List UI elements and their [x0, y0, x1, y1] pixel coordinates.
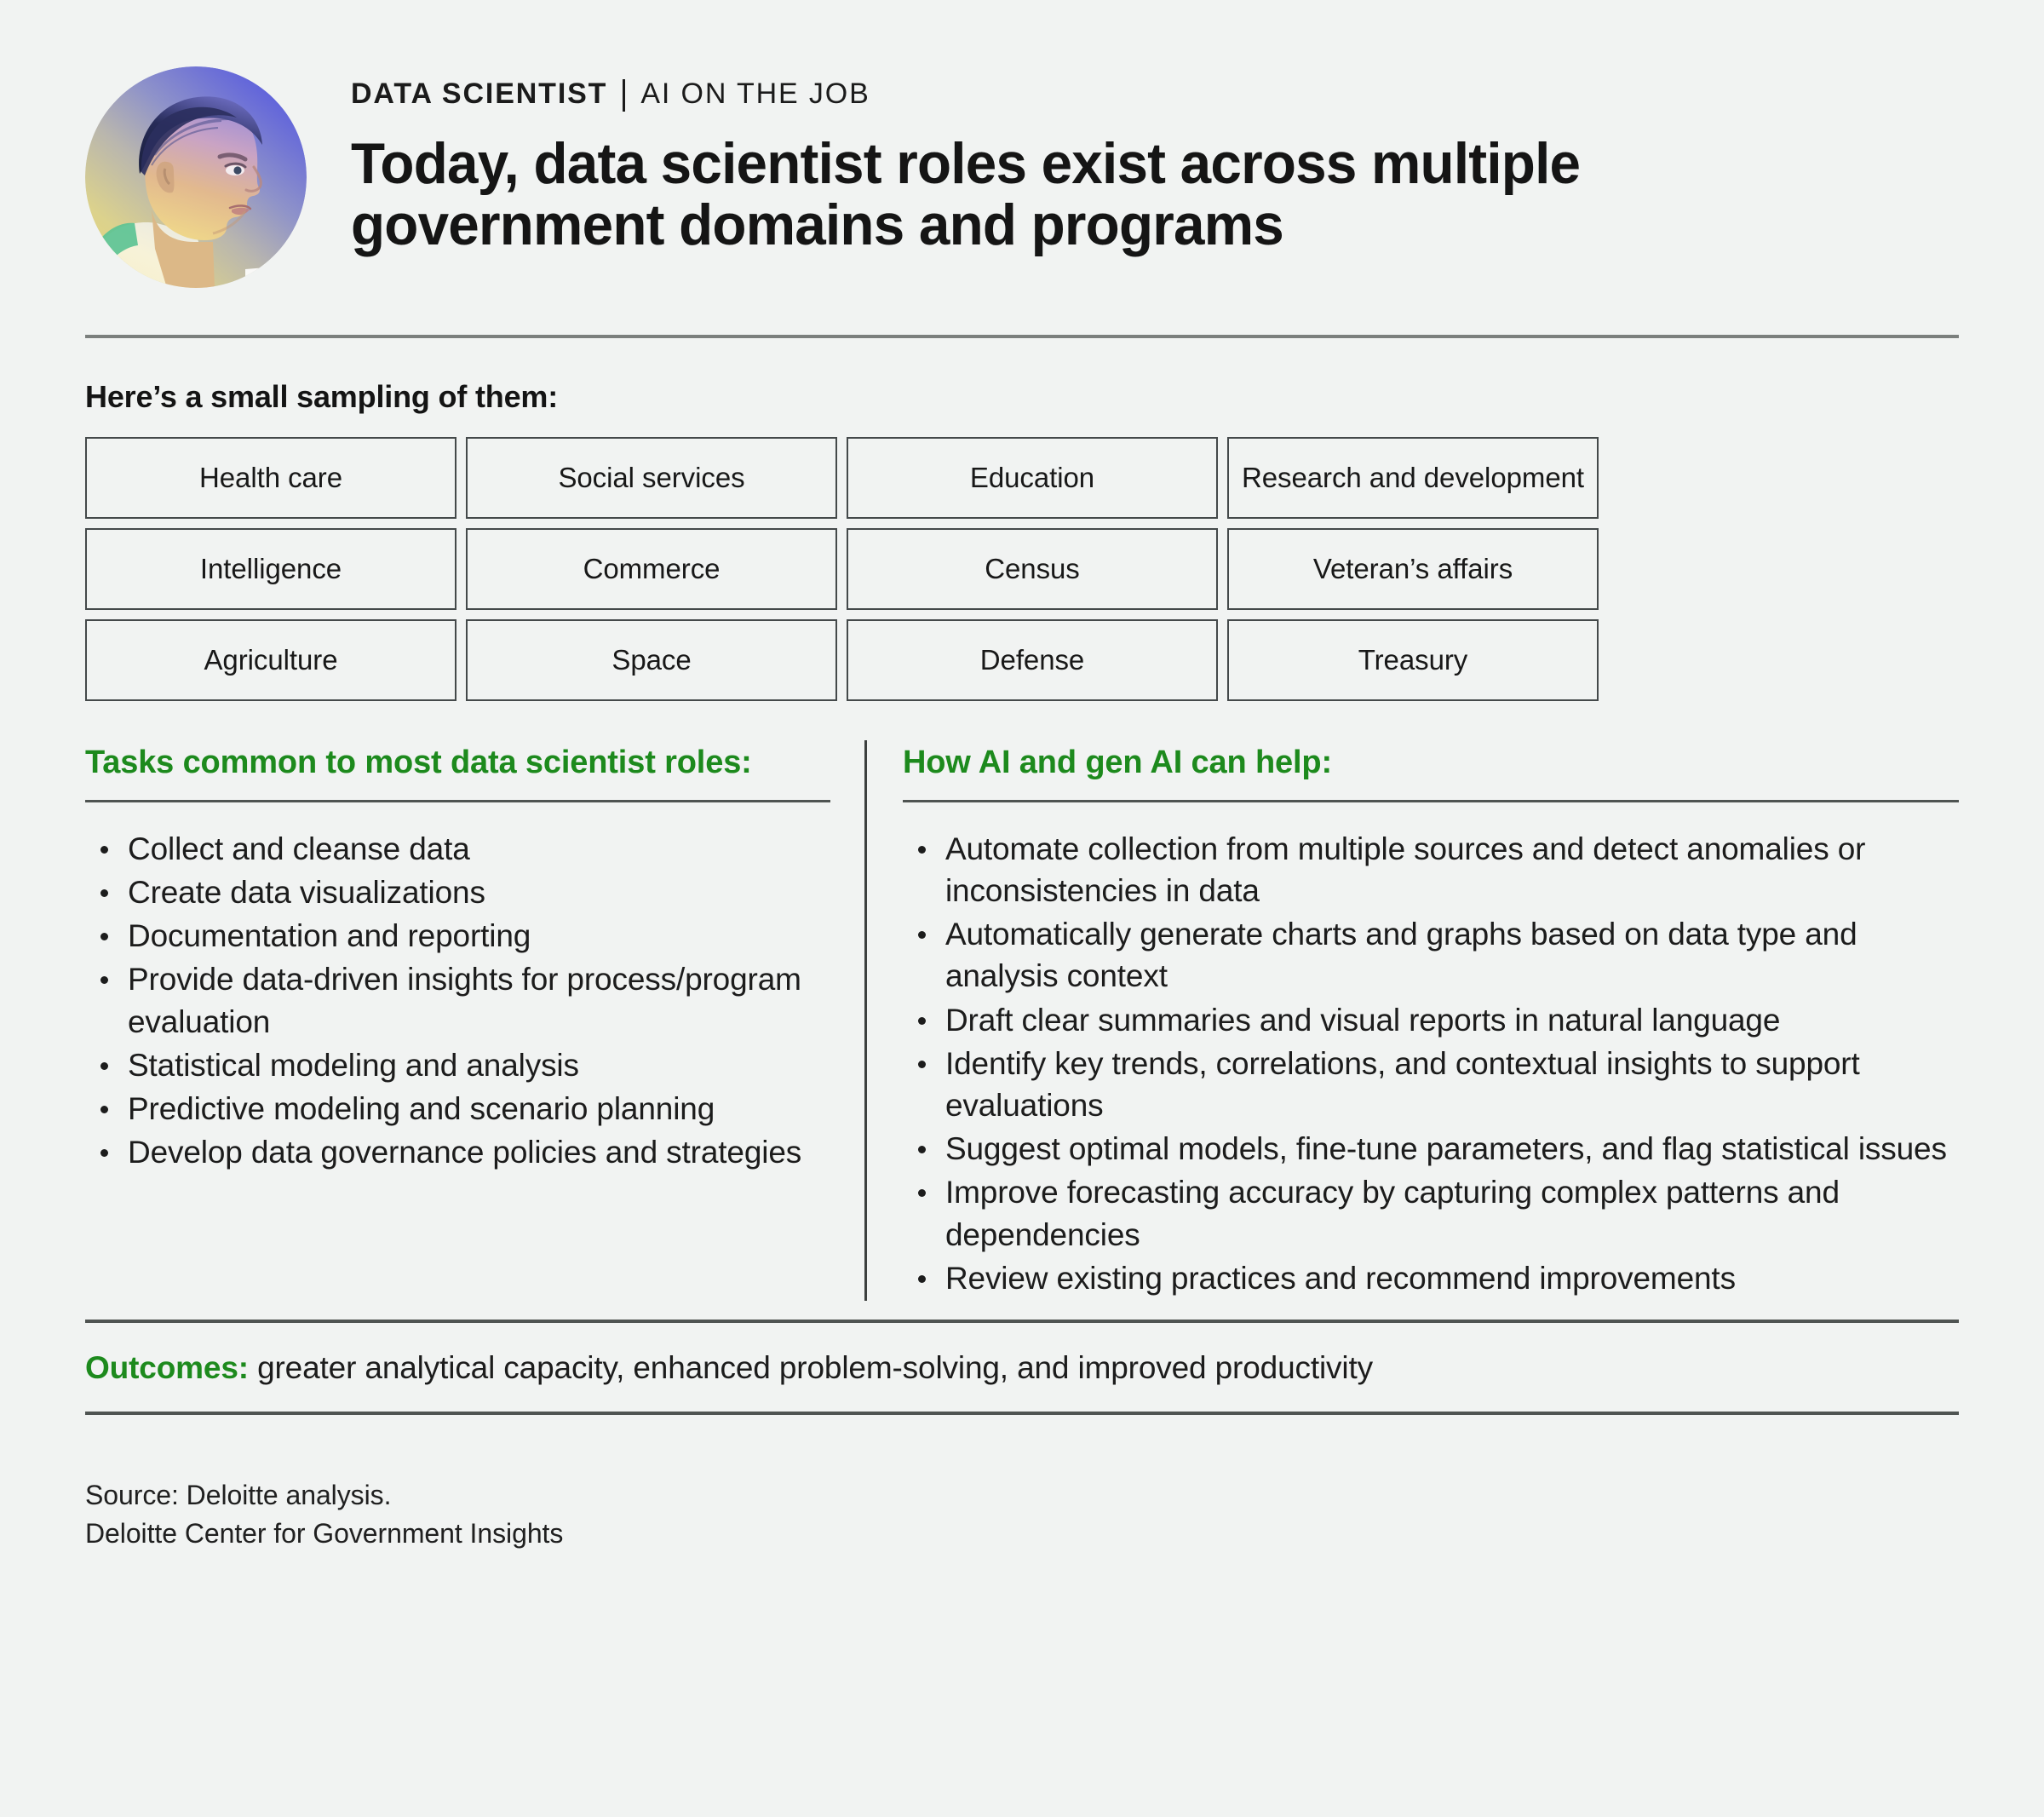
- kicker-separator-icon: [623, 79, 625, 112]
- list-item: Automate collection from multiple source…: [903, 828, 1959, 911]
- source-org-line: Deloitte Center for Government Insights: [85, 1515, 1959, 1553]
- source-line: Source: Deloitte analysis.: [85, 1476, 1959, 1515]
- list-item: Suggest optimal models, fine-tune parame…: [903, 1128, 1959, 1170]
- domain-box[interactable]: Health care: [85, 437, 456, 519]
- kicker: DATA SCIENTIST AI ON THE JOB: [351, 78, 1959, 111]
- domain-box[interactable]: Treasury: [1227, 619, 1599, 701]
- list-item: Develop data governance policies and str…: [85, 1131, 830, 1173]
- tasks-list: Collect and cleanse dataCreate data visu…: [85, 802, 830, 1174]
- domain-box[interactable]: Education: [847, 437, 1218, 519]
- outcomes-section: Outcomes: greater analytical capacity, e…: [85, 1320, 1959, 1415]
- list-item: Collect and cleanse data: [85, 828, 830, 870]
- domain-box[interactable]: Social services: [466, 437, 837, 519]
- outcomes-line: Outcomes: greater analytical capacity, e…: [85, 1323, 1959, 1412]
- two-column-section: Tasks common to most data scientist role…: [85, 745, 1959, 1301]
- list-item: Provide data-driven insights for process…: [85, 958, 830, 1042]
- domain-box[interactable]: Space: [466, 619, 837, 701]
- outcomes-label: Outcomes:: [85, 1350, 249, 1385]
- domain-box[interactable]: Census: [847, 528, 1218, 610]
- kicker-light: AI ON THE JOB: [640, 78, 870, 110]
- list-item: Improve forecasting accuracy by capturin…: [903, 1171, 1959, 1255]
- domain-box[interactable]: Agriculture: [85, 619, 456, 701]
- list-item: Documentation and reporting: [85, 915, 830, 957]
- list-item: Predictive modeling and scenario plannin…: [85, 1088, 830, 1130]
- list-item: Statistical modeling and analysis: [85, 1044, 830, 1086]
- domain-box[interactable]: Commerce: [466, 528, 837, 610]
- infographic-page: DATA SCIENTIST AI ON THE JOB Today, data…: [0, 0, 2044, 1817]
- sampling-label: Here’s a small sampling of them:: [85, 379, 1959, 415]
- ai-help-list: Automate collection from multiple source…: [903, 802, 1959, 1299]
- avatar: [85, 66, 307, 288]
- tasks-column-heading: Tasks common to most data scientist role…: [85, 745, 830, 800]
- list-item: Create data visualizations: [85, 871, 830, 913]
- ai-help-column-heading: How AI and gen AI can help:: [903, 745, 1959, 800]
- ai-help-column: How AI and gen AI can help: Automate col…: [867, 745, 1959, 1301]
- domain-box[interactable]: Research and development: [1227, 437, 1599, 519]
- domain-box[interactable]: Veteran’s affairs: [1227, 528, 1599, 610]
- domain-box-grid: Health careSocial servicesEducationResea…: [85, 437, 1959, 701]
- header-text: DATA SCIENTIST AI ON THE JOB Today, data…: [351, 66, 1959, 256]
- page-title: Today, data scientist roles exist across…: [351, 133, 1903, 256]
- header: DATA SCIENTIST AI ON THE JOB Today, data…: [85, 0, 1959, 288]
- list-item: Automatically generate charts and graphs…: [903, 913, 1959, 997]
- kicker-bold: DATA SCIENTIST: [351, 78, 607, 110]
- avatar-portrait-icon: [85, 66, 307, 288]
- list-item: Identify key trends, correlations, and c…: [903, 1043, 1959, 1126]
- domain-box[interactable]: Defense: [847, 619, 1218, 701]
- header-divider: [85, 335, 1959, 338]
- domain-box[interactable]: Intelligence: [85, 528, 456, 610]
- outcomes-text: greater analytical capacity, enhanced pr…: [249, 1350, 1373, 1385]
- source-footer: Source: Deloitte analysis. Deloitte Cent…: [85, 1476, 1959, 1554]
- list-item: Draft clear summaries and visual reports…: [903, 999, 1959, 1041]
- list-item: Review existing practices and recommend …: [903, 1257, 1959, 1299]
- tasks-column: Tasks common to most data scientist role…: [85, 745, 864, 1301]
- outcomes-bottom-rule: [85, 1412, 1959, 1415]
